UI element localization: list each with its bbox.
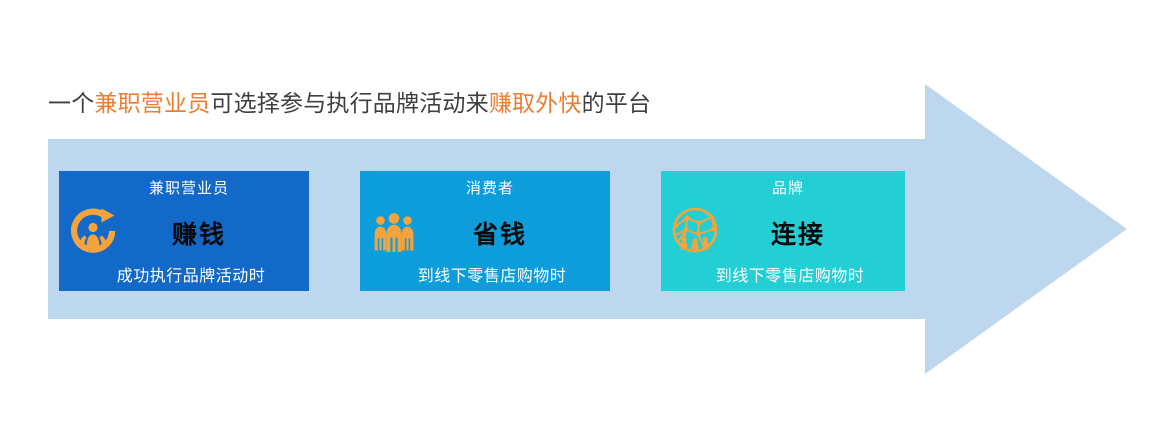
card-footer-label: 到线下零售店购物时 <box>360 262 610 286</box>
card-consumer[interactable]: 消费者 省钱 到线下零售店购物时 <box>360 171 610 291</box>
title-segment-3: 可选择参与执行品牌活动来 <box>210 90 488 116</box>
card-part-time-clerk[interactable]: 兼职营业员 赚钱 成功执行品牌活动时 <box>59 171 309 291</box>
card-main-label: 省钱 <box>360 215 610 251</box>
title-segment-1: 一个 <box>48 90 94 116</box>
card-main-label: 赚钱 <box>59 215 309 251</box>
card-main-label: 连接 <box>661 215 905 251</box>
title-segment-5: 的平台 <box>582 90 652 116</box>
card-header-label: 品牌 <box>661 177 905 198</box>
page-title: 一个兼职营业员可选择参与执行品牌活动来赚取外快的平台 <box>48 88 651 118</box>
card-header-label: 兼职营业员 <box>59 177 309 198</box>
card-brand[interactable]: 品牌 <box>661 171 905 291</box>
title-segment-4-highlight: 赚取外快 <box>489 90 582 116</box>
card-footer-label: 成功执行品牌活动时 <box>59 262 309 286</box>
card-row: 兼职营业员 赚钱 成功执行品牌活动时 <box>59 171 905 291</box>
card-footer-label: 到线下零售店购物时 <box>661 262 905 286</box>
infographic-canvas: 一个兼职营业员可选择参与执行品牌活动来赚取外快的平台 兼职营业员 <box>0 0 1150 430</box>
title-segment-2-highlight: 兼职营业员 <box>94 90 210 116</box>
card-header-label: 消费者 <box>360 177 610 198</box>
